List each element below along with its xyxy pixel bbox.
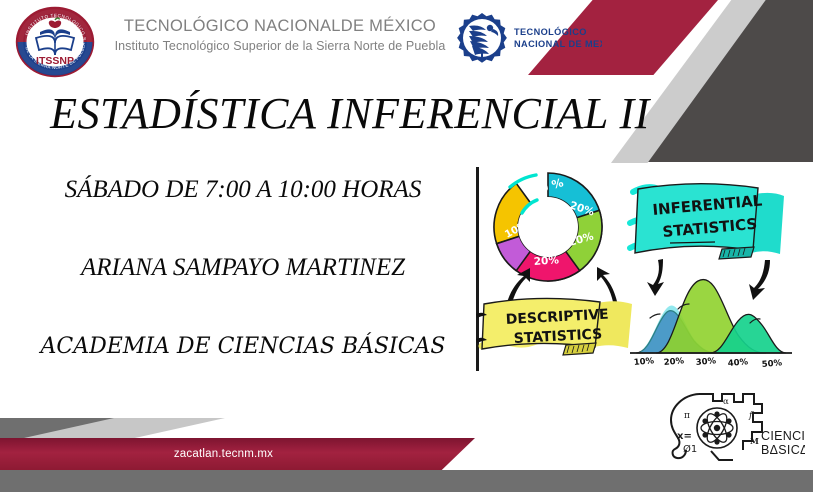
decoration-bottom-left-dark-gray	[0, 418, 160, 440]
slide-header: INSTITUTO TECNOLOGICO SUPERIOR DE LA SIE…	[0, 0, 640, 80]
banner-descriptive-statistics: DESCRIPTIVE STATISTICS	[476, 298, 632, 355]
arrow-right-up	[597, 267, 618, 307]
banner-inferential-statistics: INFERENTIAL STATISTICS	[630, 184, 784, 259]
itssnp-logo: INSTITUTO TECNOLOGICO SUPERIOR DE LA SIE…	[14, 6, 96, 78]
svg-text:ITSSNP: ITSSNP	[36, 55, 74, 67]
statistics-illustration: 30 % 20% 20% 20% 10%	[470, 163, 800, 375]
course-academy: ACADEMIA DE CIENCIAS BÁSICAS	[18, 334, 468, 359]
footer-band: zacatlan.tecnm.mx	[0, 438, 475, 470]
logo-text-ciencias: CIENCIΔS	[761, 429, 805, 443]
curve-tick-50: 50%	[761, 358, 783, 370]
logo-text-basicas: BΔSICΔS	[761, 443, 805, 457]
presentation-slide: INSTITUTO TECNOLOGICO SUPERIOR DE LA SIE…	[0, 0, 813, 492]
decoration-bottom-gray-bar	[0, 470, 813, 492]
tecnm-title: TECNOLÓGICO NACIONALDE MÉXICO	[110, 16, 450, 37]
curve-tick-30: 30%	[695, 356, 717, 368]
logo-symbol-binary: Ø1	[683, 443, 697, 455]
ciencias-basicas-logo: π α f M x= Ø1 CIENCIΔS BΔSICΔS	[655, 388, 805, 466]
decoration-bottom-left-light-gray	[0, 418, 300, 440]
logo-symbol-x: x=	[677, 431, 692, 442]
institution-name-block: TECNOLÓGICO NACIONALDE MÉXICO Instituto …	[110, 16, 450, 55]
course-teacher: ARIANA SAMPAYO MARTINEZ	[18, 254, 468, 282]
svg-text:NACIONAL DE MEXICO: NACIONAL DE MEXICO	[514, 39, 602, 49]
arrow-down-left	[647, 259, 664, 296]
institute-subtitle: Instituto Tecnológico Superior de la Sie…	[110, 38, 450, 55]
donut-chart: 30 % 20% 20% 20% 10%	[481, 173, 616, 302]
curve-tick-10: 10%	[633, 356, 655, 368]
course-schedule: SÁBADO DE 7:00 A 10:00 HORAS	[18, 176, 468, 204]
curve-tick-40: 40%	[727, 357, 749, 369]
arrow-down-right	[749, 260, 770, 300]
svg-text:TECNOLÓGICO: TECNOLÓGICO	[514, 26, 587, 37]
tecnm-logo: TECNOLÓGICO NACIONAL DE MEXICO	[452, 10, 602, 70]
course-info-block: SÁBADO DE 7:00 A 10:00 HORAS ARIANA SAMP…	[18, 176, 468, 359]
page-title: ESTADÍSTICA INFERENCIAL II	[0, 88, 700, 139]
logo-symbol-m: M	[750, 436, 759, 446]
donut-label-20c: 20%	[533, 254, 559, 268]
logo-symbol-pi: π	[684, 411, 690, 421]
curve-tick-20: 20%	[663, 356, 685, 368]
logo-symbol-alpha: α	[723, 397, 729, 407]
footer-website-url[interactable]: zacatlan.tecnm.mx	[174, 448, 273, 460]
